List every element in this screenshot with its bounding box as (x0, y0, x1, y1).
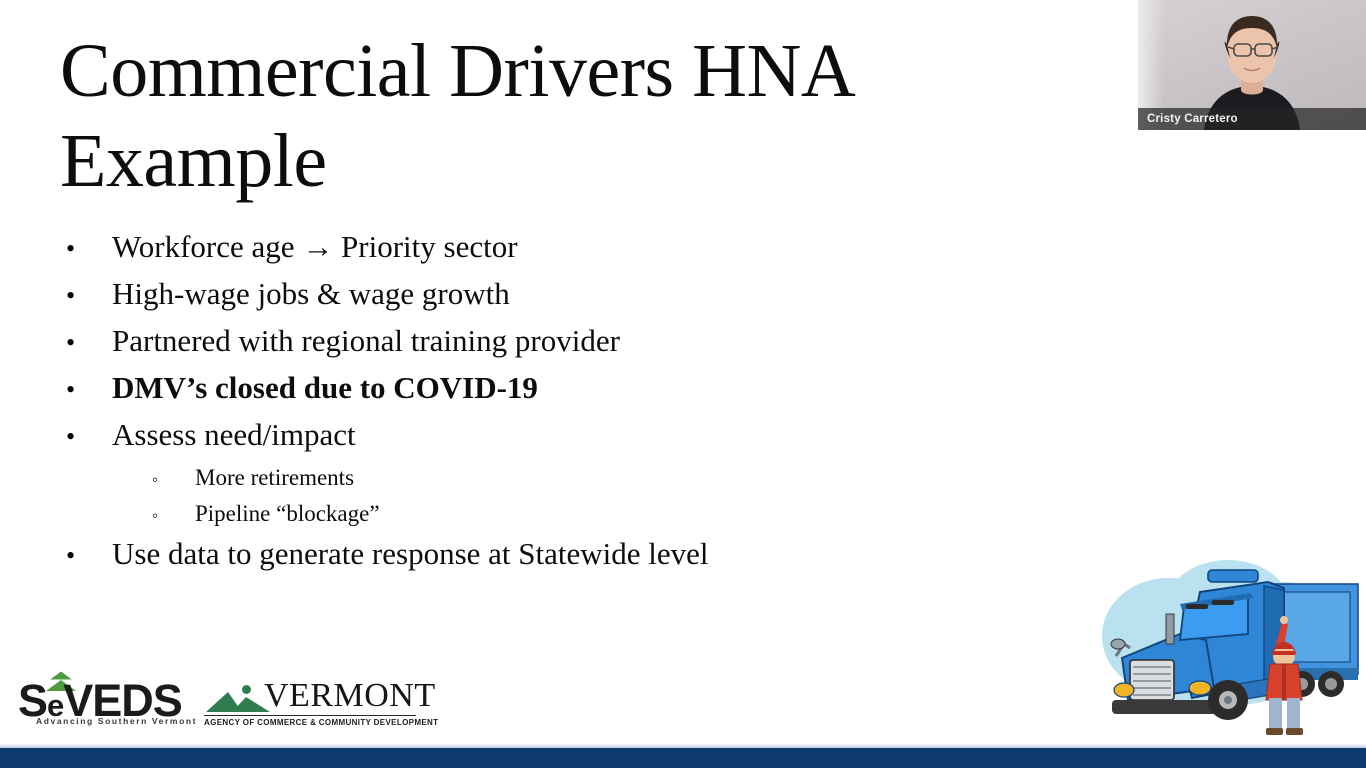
bullet-item: • Assess need/impact (60, 416, 1080, 463)
bullet-item: • High-wage jobs & wage growth (60, 275, 1080, 322)
bullet-marker-icon: • (60, 377, 112, 403)
vermont-tagline: AGENCY OF COMMERCE & COMMUNITY DEVELOPME… (204, 718, 438, 727)
bullet-text: Partnered with regional training provide… (112, 322, 620, 360)
participant-name-label: Cristy Carretero (1138, 108, 1366, 130)
bullet-item: • Use data to generate response at State… (60, 535, 1080, 582)
bullet-text: DMV’s closed due to COVID-19 (112, 369, 538, 407)
bullet-item-emphasized: • DMV’s closed due to COVID-19 (60, 369, 1080, 416)
vermont-logo: VERMONT AGENCY OF COMMERCE & COMMUNITY D… (202, 672, 418, 732)
bullet-text: High-wage jobs & wage growth (112, 275, 510, 313)
bullet-item: • Partnered with regional training provi… (60, 322, 1080, 369)
sub-bullet-text: Pipeline “blockage” (195, 499, 380, 529)
bottom-accent-band (0, 748, 1366, 768)
bullet-marker-icon: • (60, 236, 112, 262)
sub-bullet-marker-icon: ◦ (60, 471, 195, 488)
bullet-text: Workforce age → Priority sector (112, 228, 518, 266)
seveds-tagline: Advancing Southern Vermont (36, 716, 197, 726)
bullet-text: Assess need/impact (112, 416, 356, 454)
webcam-video-tile[interactable]: Cristy Carretero (1138, 0, 1366, 130)
sub-bullet-text: More retirements (195, 463, 354, 493)
sub-bullet-marker-icon: ◦ (60, 507, 195, 524)
bullet-marker-icon: • (60, 330, 112, 356)
sub-bullet-item: ◦ More retirements (60, 463, 1080, 499)
bullet-marker-icon: • (60, 283, 112, 309)
bullet-marker-icon: • (60, 424, 112, 450)
bullet-text: Use data to generate response at Statewi… (112, 535, 709, 573)
sub-bullet-item: ◦ Pipeline “blockage” (60, 499, 1080, 535)
mountain-icon (206, 686, 272, 712)
bullet-marker-icon: • (60, 543, 112, 569)
vermont-wordmark: VERMONT (264, 678, 436, 714)
vermont-divider (204, 715, 416, 716)
bullet-item: • Workforce age → Priority sector (60, 228, 1080, 275)
truck-illustration (1088, 548, 1366, 743)
slide-bullet-list: • Workforce age → Priority sector • High… (60, 228, 1080, 582)
slide-title: Commercial Drivers HNA Example (60, 26, 1060, 206)
seveds-logo: SeVEDS Advancing Southern Vermont (18, 666, 190, 732)
